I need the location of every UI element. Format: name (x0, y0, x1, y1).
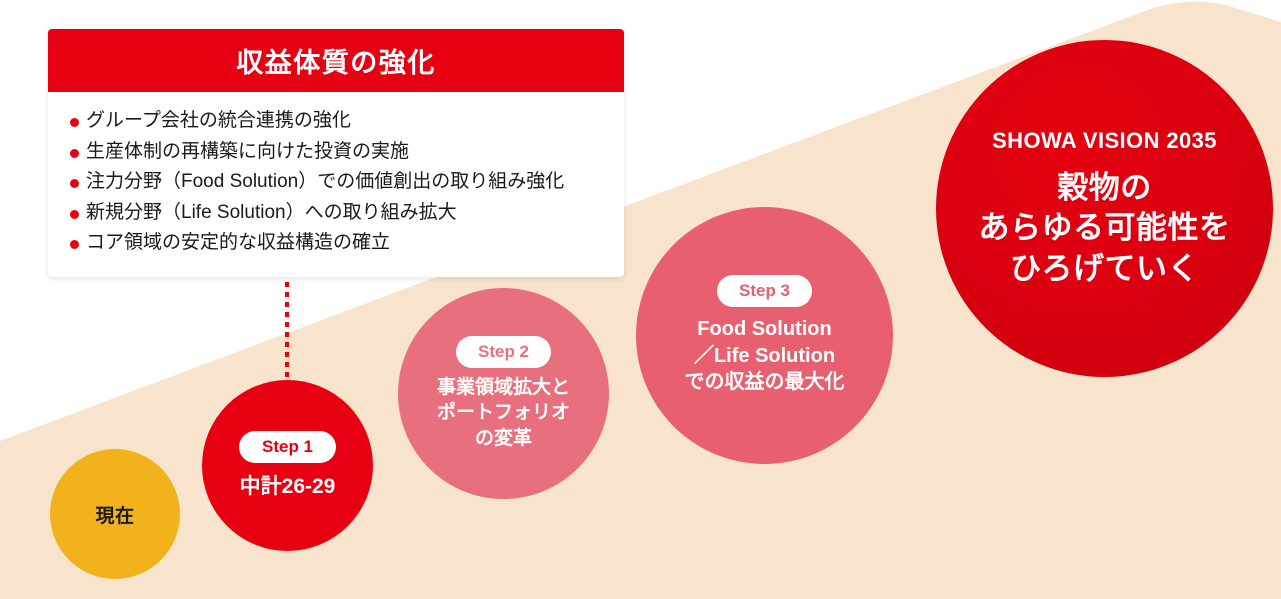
list-item: 新規分野（Life Solution）への取り組み拡大 (70, 198, 606, 229)
step-3-badge: Step 3 (717, 275, 812, 307)
bullet-dot-icon (70, 210, 79, 219)
step-2-line-2: ポートフォリオ (437, 400, 570, 425)
card-body: グループ会社の統合連携の強化 生産体制の再構築に向けた投資の実施 注力分野（Fo… (48, 92, 624, 277)
list-item: コア領域の安定的な収益構造の確立 (70, 228, 606, 259)
step-1-line-1: 中計26-29 (240, 470, 336, 500)
vision-tagline-line-1: 穀物の (979, 168, 1231, 208)
step-3-line-2: ／Life Solution (685, 343, 845, 370)
step-3-body: Food Solution ／Life Solution での収益の最大化 (685, 316, 845, 396)
list-item-label: 新規分野（Life Solution）への取り組み拡大 (86, 199, 457, 228)
step-3-line-1: Food Solution (685, 316, 845, 343)
step-2-badge: Step 2 (456, 336, 551, 368)
bullet-dot-icon (70, 149, 79, 158)
step-2-body: 事業領域拡大と ポートフォリオ の変革 (437, 375, 570, 450)
list-item-label: 生産体制の再構築に向けた投資の実施 (86, 138, 409, 167)
circle-vision-2035: SHOWA VISION 2035 穀物の あらゆる可能性を ひろげていく (936, 40, 1273, 377)
vision-title: SHOWA VISION 2035 (992, 128, 1217, 154)
card-title: 収益体質の強化 (236, 41, 436, 80)
list-item: 生産体制の再構築に向けた投資の実施 (70, 137, 606, 168)
circle-current-state: 現在 (50, 449, 180, 579)
list-item: グループ会社の統合連携の強化 (70, 106, 606, 137)
list-item-label: グループ会社の統合連携の強化 (86, 107, 351, 136)
step-1-body: 中計26-29 (240, 470, 336, 500)
profitability-card: 収益体質の強化 グループ会社の統合連携の強化 生産体制の再構築に向けた投資の実施… (48, 29, 624, 277)
list-item: 注力分野（Food Solution）での価値創出の取り組み強化 (70, 167, 606, 198)
step-2-line-1: 事業領域拡大と (437, 375, 570, 400)
step-3-line-3: での収益の最大化 (685, 369, 845, 396)
vision-tagline: 穀物の あらゆる可能性を ひろげていく (979, 168, 1231, 289)
vision-tagline-line-3: ひろげていく (979, 249, 1231, 289)
list-item-label: 注力分野（Food Solution）での価値創出の取り組み強化 (86, 168, 564, 197)
bullet-dot-icon (70, 179, 79, 188)
card-header: 収益体質の強化 (48, 29, 624, 92)
initiative-list: グループ会社の統合連携の強化 生産体制の再構築に向けた投資の実施 注力分野（Fo… (48, 106, 624, 259)
bullet-dot-icon (70, 118, 79, 127)
bullet-dot-icon (70, 240, 79, 249)
list-item-label: コア領域の安定的な収益構造の確立 (86, 229, 390, 258)
circle-step-1: Step 1 中計26-29 (202, 380, 373, 551)
step-2-line-3: の変革 (437, 426, 570, 451)
vision-tagline-line-2: あらゆる可能性を (979, 208, 1231, 248)
circle-step-2: Step 2 事業領域拡大と ポートフォリオ の変革 (398, 288, 609, 499)
current-state-label: 現在 (95, 501, 134, 528)
circle-step-3: Step 3 Food Solution ／Life Solution での収益… (636, 207, 893, 464)
step-1-badge: Step 1 (239, 431, 336, 463)
roadmap-diagram: 現在 Step 1 中計26-29 Step 2 事業領域拡大と ポートフォリオ… (0, 0, 1281, 599)
